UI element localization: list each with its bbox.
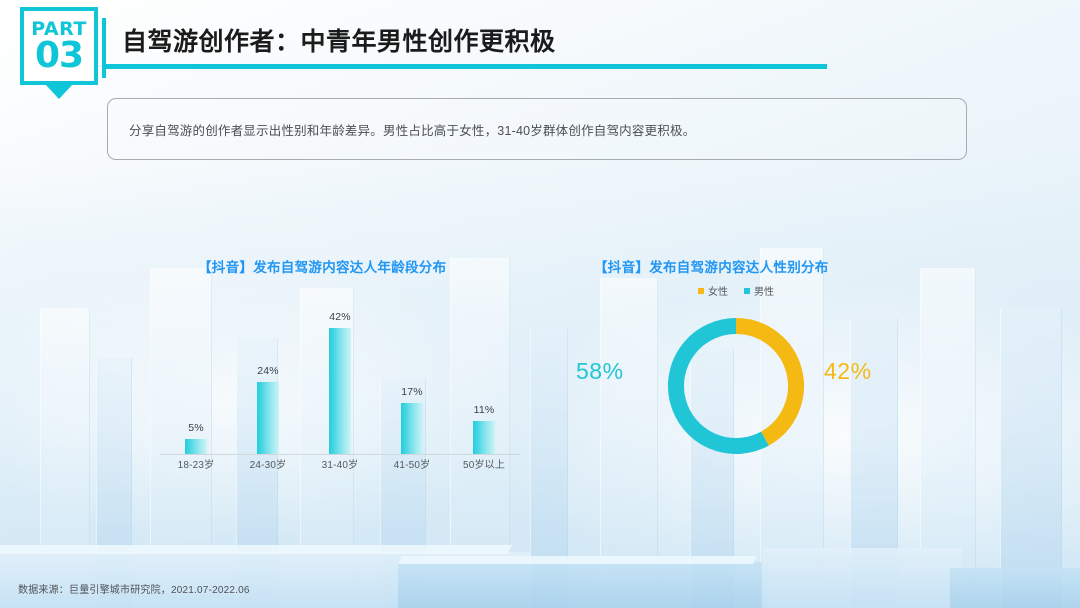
background-block-top bbox=[0, 545, 512, 554]
background-block bbox=[398, 562, 768, 608]
bar-chart: 5%18-23岁24%24-30岁42%31-40岁17%41-50岁11%50… bbox=[160, 290, 520, 455]
bar bbox=[401, 403, 423, 454]
background-tower bbox=[40, 308, 90, 608]
page-title: 自驾游创作者：中青年男性创作更积极 bbox=[122, 22, 556, 58]
bar-category-label: 41-50岁 bbox=[376, 456, 448, 471]
bar-category-label: 50岁以上 bbox=[448, 456, 520, 471]
donut-slice-female[interactable] bbox=[736, 326, 796, 439]
title-underline bbox=[105, 64, 827, 69]
bar bbox=[329, 328, 351, 454]
background-tower bbox=[96, 358, 132, 608]
background-block bbox=[950, 568, 1080, 608]
description-text: 分享自驾游的创作者显示出性别和年龄差异。男性占比高于女性，31-40岁群体创作自… bbox=[108, 120, 695, 139]
bar-group: 17% bbox=[376, 290, 448, 454]
background-tower bbox=[1000, 308, 1062, 608]
legend-label: 男性 bbox=[754, 283, 774, 298]
background-block bbox=[0, 552, 530, 608]
bar-value-label: 17% bbox=[401, 386, 423, 398]
data-source-note: 数据来源：巨量引擎城市研究院，2021.07-2022.06 bbox=[18, 581, 250, 596]
donut-slice-male[interactable] bbox=[676, 326, 765, 446]
donut-label-male: 58% bbox=[576, 358, 624, 385]
bar-category-label: 31-40岁 bbox=[304, 456, 376, 471]
bar-value-label: 24% bbox=[257, 365, 279, 377]
donut-chart-title: 【抖音】发布自驾游内容达人性别分布 bbox=[594, 256, 829, 276]
legend-item[interactable]: 女性 bbox=[698, 283, 728, 298]
bar-group: 24% bbox=[232, 290, 304, 454]
background-tower bbox=[920, 268, 976, 608]
donut-chart-legend: 女性男性 bbox=[556, 283, 916, 298]
background-block bbox=[762, 548, 962, 608]
part-badge-pointer-icon bbox=[45, 84, 73, 99]
bar-group: 5% bbox=[160, 290, 232, 454]
donut-label-female: 42% bbox=[824, 358, 872, 385]
title-rule-cap bbox=[102, 18, 106, 78]
bar bbox=[473, 421, 495, 454]
bar-category-label: 18-23岁 bbox=[160, 456, 232, 471]
bar-value-label: 5% bbox=[188, 422, 204, 434]
part-badge: PART 03 bbox=[20, 7, 98, 85]
legend-label: 女性 bbox=[708, 283, 728, 298]
legend-swatch-icon bbox=[698, 288, 704, 294]
bar-chart-axis-line bbox=[160, 454, 520, 455]
bar-chart-title: 【抖音】发布自驾游内容达人年龄段分布 bbox=[198, 256, 446, 276]
bar-value-label: 11% bbox=[474, 404, 495, 416]
bar-group: 42% bbox=[304, 290, 376, 454]
bar bbox=[257, 382, 279, 454]
donut-chart-graphic bbox=[660, 310, 812, 462]
bar-group: 11% bbox=[448, 290, 520, 454]
background-block-top bbox=[398, 556, 757, 564]
description-box: 分享自驾游的创作者显示出性别和年龄差异。男性占比高于女性，31-40岁群体创作自… bbox=[107, 98, 967, 160]
legend-item[interactable]: 男性 bbox=[744, 283, 774, 298]
bar-value-label: 42% bbox=[329, 311, 351, 323]
slide-canvas: PART 03 自驾游创作者：中青年男性创作更积极 分享自驾游的创作者显示出性别… bbox=[0, 0, 1080, 608]
part-badge-number: 03 bbox=[35, 39, 83, 73]
bar-category-label: 24-30岁 bbox=[232, 456, 304, 471]
bar bbox=[185, 439, 207, 454]
legend-swatch-icon bbox=[744, 288, 750, 294]
donut-chart: 女性男性 58% 42% bbox=[556, 280, 916, 480]
